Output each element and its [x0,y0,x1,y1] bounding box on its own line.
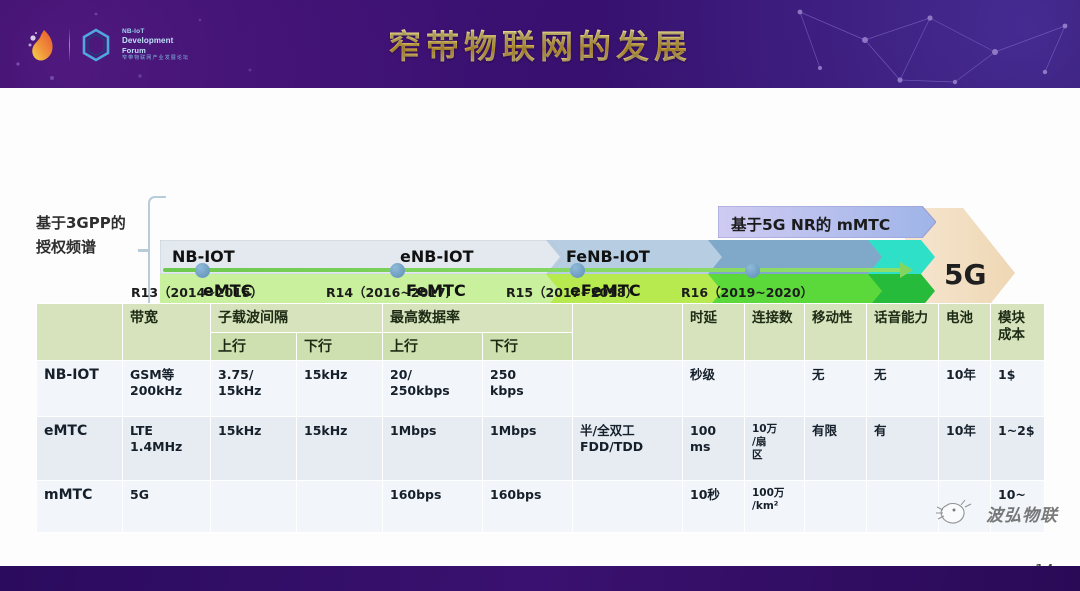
comparison-table: 带宽 子载波间隔 最高数据率 时延 连接数 移动性 话音能力 电池 模块成本 上… [36,303,1045,533]
cell-subcarrier-down [297,481,383,533]
cell-dr-up-line1: 20/ [390,367,476,383]
cell-bandwidth-line1: LTE [130,423,204,439]
timeline-dot-r16 [745,263,760,278]
table-header-row-1: 带宽 子载波间隔 最高数据率 时延 连接数 移动性 话音能力 电池 模块成本 [37,304,1045,333]
watermark-text: 波弘物联 [986,501,1058,526]
th-subcarrier-up: 上行 [211,332,297,361]
cell-connections-line2: /扇 [752,436,798,449]
timeline-label-r14: R14（2016~2017） [326,282,458,301]
cell-bandwidth-line1: GSM等 [130,367,204,383]
timeline-dot-r15 [570,263,585,278]
cell-bandwidth: 5G [123,481,211,533]
cell-dr-up-line2: 250kbps [390,383,476,399]
page-title: 窄带物联网的发展 [0,20,1080,68]
cell-subcarrier-up [211,481,297,533]
th-subcarrier-group: 子载波间隔 [211,304,383,333]
timeline-arrowhead [900,262,913,278]
cell-subcarrier-down: 15kHz [297,361,383,417]
cell-sc-up-line2: 15kHz [218,383,290,399]
th-battery: 电池 [939,304,991,361]
cell-battery: 10年 [939,361,991,417]
cell-connections-line2: /km² [752,500,798,513]
cell-datarate-up: 1Mbps [383,417,483,481]
th-subcarrier-down: 下行 [297,332,383,361]
slide-body: 基于3GPP的 授权频谱 非授权 频谱 5G [0,88,1080,566]
cell-duplex [573,361,683,417]
cell-module-cost: 1~2$ [991,417,1045,481]
table-row: NB-IOT GSM等 200kHz 3.75/ 15kHz 15kHz 20/ [37,361,1045,417]
slide-root: NB-IoT Development Forum 窄带物联网产业发展论坛 窄带物… [0,0,1080,591]
cell-latency: 秒级 [683,361,745,417]
cell-connections [745,361,805,417]
slide-header: NB-IoT Development Forum 窄带物联网产业发展论坛 窄带物… [0,0,1080,88]
cell-datarate-up: 160bps [383,481,483,533]
th-connections: 连接数 [745,304,805,361]
cell-datarate-down: 250 kbps [483,361,573,417]
cell-duplex [573,481,683,533]
comparison-table-wrapper: 带宽 子载波间隔 最高数据率 时延 连接数 移动性 话音能力 电池 模块成本 上… [36,303,1044,533]
cell-connections-line1: 100万 [752,487,798,500]
cell-duplex: 半/全双工 FDD/TDD [573,417,683,481]
cell-voice [867,481,939,533]
table-row: mMTC 5G 160bps 160bps 10秒 100万 /km² [37,481,1045,533]
th-voice: 话音能力 [867,304,939,361]
table-head: 带宽 子载波间隔 最高数据率 时延 连接数 移动性 话音能力 电池 模块成本 上… [37,304,1045,361]
cell-module-cost: 1$ [991,361,1045,417]
timeline-label-r13: R13（2014~2015） [131,282,263,301]
th-rowname [37,304,123,361]
th-datarate-group: 最高数据率 [383,304,573,333]
cell-duplex-line2: FDD/TDD [580,439,676,455]
cell-subcarrier-down: 15kHz [297,417,383,481]
th-module-cost: 模块成本 [991,304,1045,361]
bird-watermark-icon [935,498,979,528]
cell-duplex-line1: 半/全双工 [580,423,676,439]
cell-connections: 100万 /km² [745,481,805,533]
cell-battery: 10年 [939,417,991,481]
cell-latency-line1: 100 [690,423,738,439]
cell-mobility: 无 [805,361,867,417]
cell-bandwidth-line2: 1.4MHz [130,439,204,455]
cell-connections: 10万 /扇 区 [745,417,805,481]
cell-voice: 有 [867,417,939,481]
nbiot-stage-2-label: eNB-IOT [400,247,474,266]
cell-mobility [805,481,867,533]
cell-datarate-down: 1Mbps [483,417,573,481]
cell-connections-line1: 10万 [752,423,798,436]
cell-connections-line3: 区 [752,449,798,462]
table-body: NB-IOT GSM等 200kHz 3.75/ 15kHz 15kHz 20/ [37,361,1045,533]
cell-sc-up-line1: 3.75/ [218,367,290,383]
timeline-dot-r13 [195,263,210,278]
timeline-dot-r14 [390,263,405,278]
cell-datarate-up: 20/ 250kbps [383,361,483,417]
licensed-bracket-tick [138,249,150,252]
cell-datarate-down: 160bps [483,481,573,533]
th-mobility: 移动性 [805,304,867,361]
cell-bandwidth: GSM等 200kHz [123,361,211,417]
th-latency: 时延 [683,304,745,361]
timeline-label-r16: R16（2019~2020） [681,282,813,301]
label-licensed-line2: 授权频谱 [36,235,148,259]
cell-bandwidth: LTE 1.4MHz [123,417,211,481]
cell-dr-down-line2: kbps [490,383,566,399]
timeline-axis [163,268,903,272]
th-bandwidth: 带宽 [123,304,211,361]
cell-row-name: NB-IOT [37,361,123,417]
timeline-label-r15: R15（2017~2018） [506,282,638,301]
cell-latency: 100 ms [683,417,745,481]
cell-row-name: eMTC [37,417,123,481]
th-duplex [573,304,683,361]
cell-bandwidth-line2: 200kHz [130,383,204,399]
cell-latency-line2: ms [690,439,738,455]
th-datarate-down: 下行 [483,332,573,361]
cell-mobility: 有限 [805,417,867,481]
five-g-label: 5G [944,258,986,291]
table-row: eMTC LTE 1.4MHz 15kHz 15kHz 1Mbps 1Mbps … [37,417,1045,481]
cell-subcarrier-up: 3.75/ 15kHz [211,361,297,417]
cell-row-name: mMTC [37,481,123,533]
watermark: 波弘物联 [935,498,1058,528]
label-licensed-spectrum: 基于3GPP的 授权频谱 [36,211,148,259]
cell-voice: 无 [867,361,939,417]
slide-footer [0,566,1080,591]
cell-dr-down-line1: 250 [490,367,566,383]
mmtc-banner-label: 基于5G NR的 mMTC [731,213,890,235]
th-datarate-up: 上行 [383,332,483,361]
cell-subcarrier-up: 15kHz [211,417,297,481]
cell-latency: 10秒 [683,481,745,533]
label-licensed-line1: 基于3GPP的 [36,211,148,235]
